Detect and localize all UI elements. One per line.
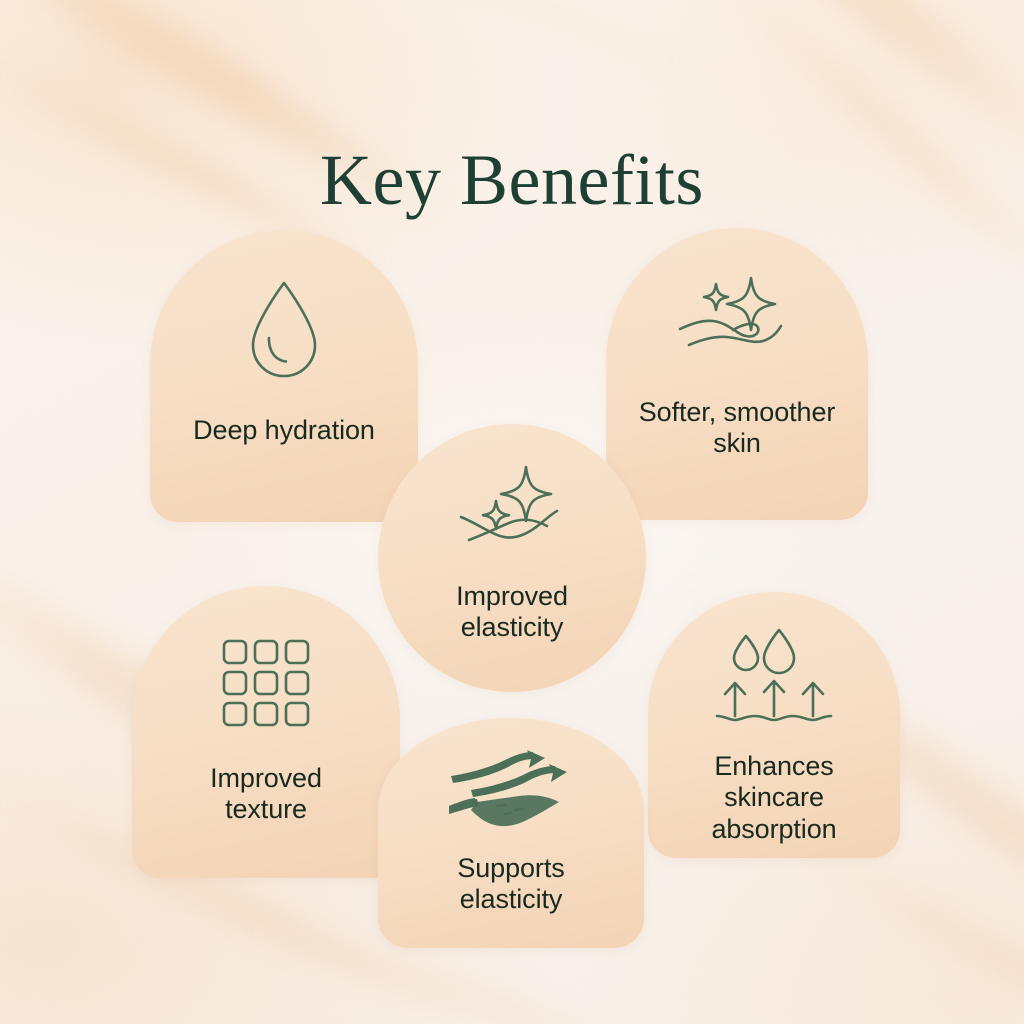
page-title: Key Benefits (0, 144, 1024, 216)
infographic-canvas: Key Benefits Deep hydration Softer, smoo… (0, 0, 1024, 1024)
benefit-label: Softer, smoother skin (639, 397, 836, 460)
benefit-label: Improved texture (210, 763, 322, 826)
benefit-card-supports-elasticity[interactable]: Supports elasticity (378, 718, 644, 948)
benefit-label: Enhances skincare absorption (711, 751, 836, 845)
hand-sparkle-icon (675, 274, 799, 375)
benefit-card-softer-smoother-skin[interactable]: Softer, smoother skin (606, 228, 868, 520)
skin-arrows-up-icon (443, 750, 579, 839)
grid-squares-icon (219, 636, 313, 735)
water-drop-icon (241, 276, 327, 389)
benefit-card-deep-hydration[interactable]: Deep hydration (150, 230, 418, 522)
benefit-label: Improved elasticity (456, 581, 568, 644)
droplets-arrows-icon (713, 628, 835, 733)
benefit-label: Supports elasticity (457, 853, 564, 916)
benefit-card-improved-elasticity[interactable]: Improved elasticity (378, 424, 646, 692)
skin-wave-sparkle-icon (452, 462, 572, 563)
benefit-card-enhances-skincare-absorption[interactable]: Enhances skincare absorption (648, 592, 900, 858)
benefit-label: Deep hydration (193, 415, 375, 446)
benefit-card-improved-texture[interactable]: Improved texture (132, 586, 400, 878)
